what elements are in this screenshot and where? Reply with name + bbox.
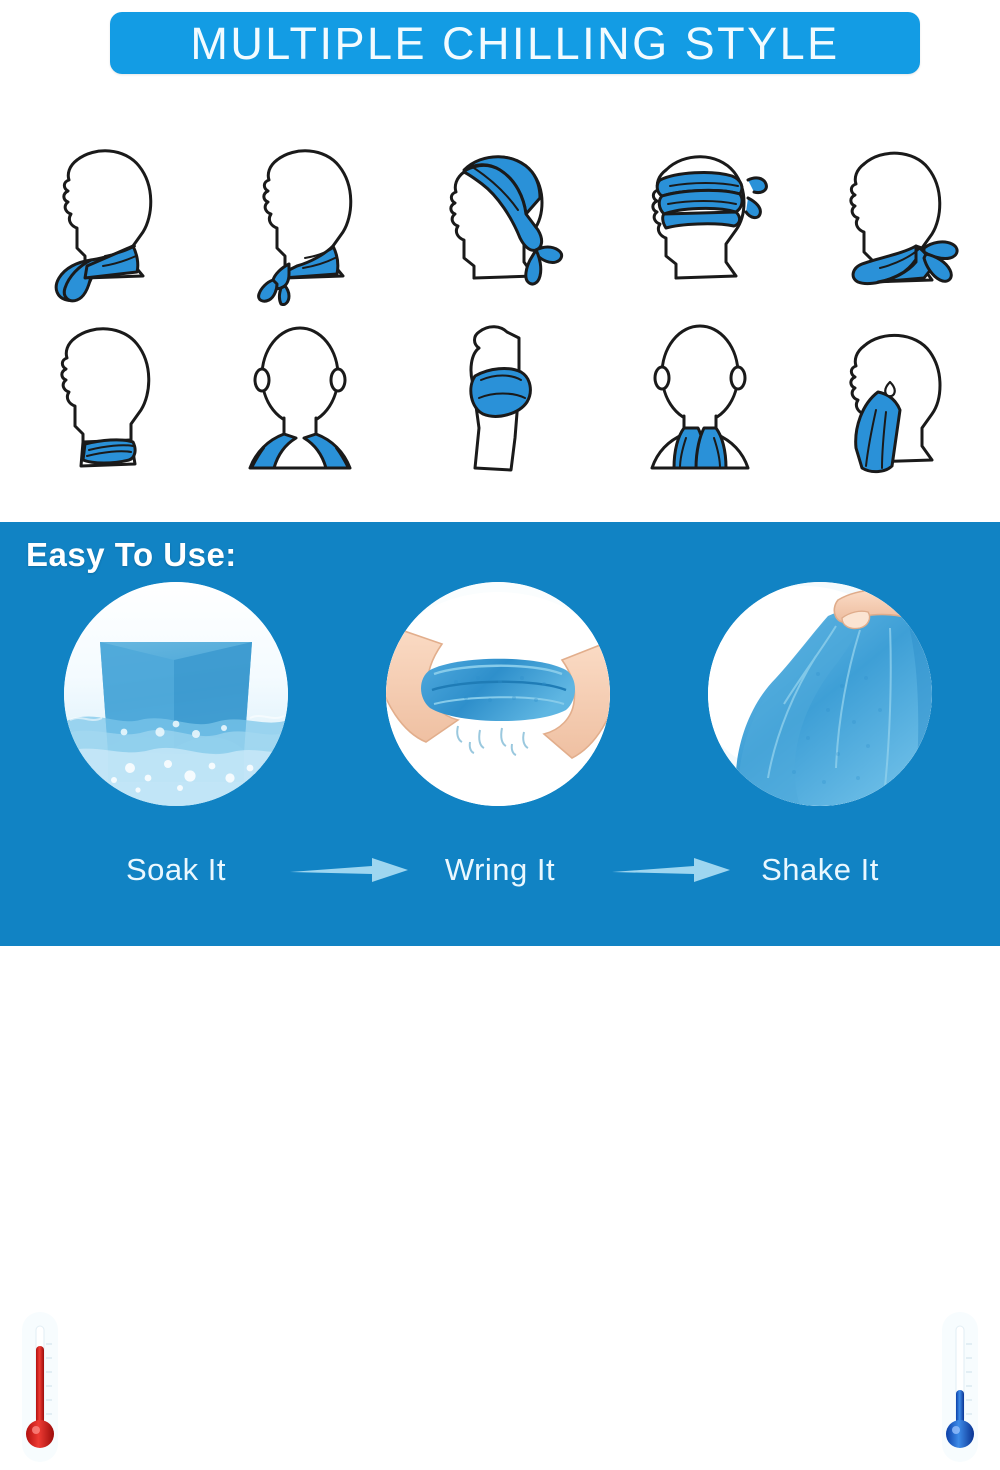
- style-item-neck-scarf-back-tie: [800, 136, 1000, 306]
- shoulder-drape-back-icon: [220, 318, 380, 488]
- step-photo-row: [0, 578, 1000, 828]
- thermometer-cold-icon: [932, 1304, 988, 1470]
- head-wrap-bandana-icon: [420, 136, 580, 306]
- step-photo-shake-it: [708, 582, 932, 806]
- chilling-style-section: MULTIPLE CHILLING STYLE: [0, 0, 1000, 522]
- style-item-face-wipe: [800, 318, 1000, 488]
- style-item-neck-gaiter: [0, 318, 200, 488]
- headband-icon: [620, 136, 780, 306]
- towel-soaking-in-water-image: [64, 582, 288, 806]
- style-item-headband: [600, 136, 800, 306]
- shoulder-drape-front-icon: [620, 318, 780, 488]
- neck-gaiter-icon: [25, 318, 175, 488]
- hand-shaking-towel-image: [708, 582, 932, 806]
- wrist-wrap-icon: [445, 318, 555, 488]
- style-item-neck-scarf-knot: [200, 136, 400, 306]
- style-item-head-wrap-bandana: [400, 136, 600, 306]
- style-item-shoulder-drape-back: [200, 318, 400, 488]
- style-row-1: [0, 136, 1000, 306]
- title-banner: MULTIPLE CHILLING STYLE: [110, 12, 920, 74]
- style-item-shoulder-drape-front: [600, 318, 800, 488]
- step-label-shake-it: Shake It: [700, 840, 940, 900]
- neck-wrap-front-tie-icon: [25, 136, 175, 306]
- neck-scarf-knot-icon: [225, 136, 375, 306]
- step-photo-soak-it: [64, 582, 288, 806]
- step-label-soak-it: Soak It: [56, 840, 296, 900]
- style-item-wrist-wrap: [400, 318, 600, 488]
- easy-to-use-heading: Easy To Use:: [26, 538, 237, 571]
- step-label-wring-it: Wring It: [380, 840, 620, 900]
- page-title: MULTIPLE CHILLING STYLE: [190, 21, 839, 66]
- thermometer-cold-glyph: [932, 1304, 988, 1470]
- style-row-2: [0, 318, 1000, 488]
- thermometer-hot-glyph: [12, 1304, 68, 1470]
- face-wipe-icon: [820, 318, 980, 488]
- thermometer-hot-icon: [12, 1304, 68, 1470]
- style-item-neck-wrap-front-tie: [0, 136, 200, 306]
- step-labels-row: Soak It Wring It Shake It: [0, 840, 1000, 900]
- step-photo-wring-it: [386, 582, 610, 806]
- neck-scarf-back-tie-icon: [820, 136, 980, 306]
- hands-wringing-towel-image: [386, 582, 610, 806]
- infographic-page: MULTIPLE CHILLING STYLE: [0, 0, 1000, 946]
